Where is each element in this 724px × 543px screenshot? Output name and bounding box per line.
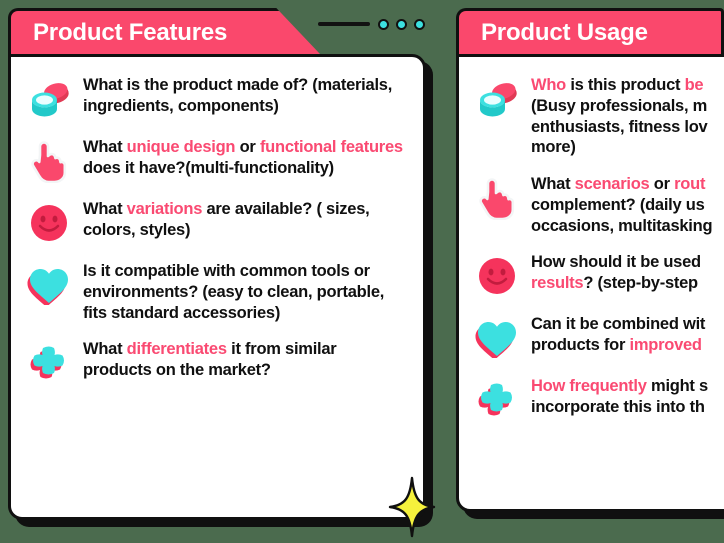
- text-line: What scenarios or rout: [531, 174, 712, 195]
- text-line: Who is this product be: [531, 75, 707, 96]
- card-title: Product Usage: [481, 19, 648, 47]
- text-line: results? (step-by-step: [531, 273, 701, 294]
- pointing-hand-icon: [473, 176, 521, 220]
- highlighted-text: unique design: [127, 138, 236, 156]
- list-item-text: Can it be combined witproducts for impro…: [531, 312, 705, 356]
- feature-list: What is the product made of? (materials,…: [25, 73, 409, 385]
- highlighted-text: variations: [127, 200, 202, 218]
- highlighted-text: scenarios: [575, 175, 650, 193]
- list-item-text: What scenarios or routcomplement? (daily…: [531, 172, 712, 236]
- plain-text: more): [531, 138, 576, 156]
- plain-text: incorporate this into th: [531, 398, 705, 416]
- list-item[interactable]: What unique design or functional feature…: [25, 135, 409, 183]
- card-body-product-usage: Who is this product be(Busy professional…: [456, 54, 724, 512]
- list-item[interactable]: What differentiates it from similar prod…: [25, 337, 409, 385]
- list-item[interactable]: What variations are available? ( sizes, …: [25, 197, 409, 245]
- list-item-text: How frequently might sincorporate this i…: [531, 374, 708, 418]
- list-item[interactable]: What scenarios or routcomplement? (daily…: [473, 172, 724, 236]
- plain-text: What: [83, 340, 127, 358]
- plain-text: does it have?(multi-functionality): [83, 159, 334, 177]
- plain-text: How should it be used: [531, 253, 701, 271]
- card-header-product-features: Product Features: [8, 8, 320, 54]
- list-item[interactable]: What is the product made of? (materials,…: [25, 73, 409, 121]
- heart-icon: [473, 316, 521, 360]
- plain-text: What: [531, 175, 575, 193]
- text-line: incorporate this into th: [531, 397, 708, 418]
- plain-text: What is the product made of? (materials,…: [83, 76, 392, 115]
- text-line: (Busy professionals, m: [531, 96, 707, 117]
- plain-text: What: [83, 200, 127, 218]
- card-body-product-features: What is the product made of? (materials,…: [8, 54, 426, 520]
- list-item-text: What differentiates it from similar prod…: [83, 337, 409, 381]
- list-item-text: What variations are available? ( sizes, …: [83, 197, 409, 241]
- highlighted-text: differentiates: [127, 340, 227, 358]
- text-line: How should it be used: [531, 252, 701, 273]
- highlighted-text: improved: [630, 336, 702, 354]
- list-item-text: Who is this product be(Busy professional…: [531, 73, 707, 158]
- plain-text: might s: [647, 377, 708, 395]
- smiley-icon: [25, 201, 73, 245]
- plain-text: ? (step-by-step: [583, 274, 698, 292]
- plain-text: complement? (daily us: [531, 196, 705, 214]
- jar-icon: [473, 77, 521, 121]
- card-header-product-usage: Product Usage: [456, 8, 724, 54]
- list-item-text: What is the product made of? (materials,…: [83, 73, 409, 117]
- heart-icon: [25, 263, 73, 307]
- highlighted-text: How frequently: [531, 377, 647, 395]
- text-line: enthusiasts, fitness lov: [531, 117, 707, 138]
- plain-text: (Busy professionals, m: [531, 97, 707, 115]
- highlighted-text: results: [531, 274, 583, 292]
- card-product-features: Product Features What is the product mad…: [8, 8, 426, 521]
- puzzle-cross-icon: [25, 341, 73, 385]
- plain-text: Can it be combined wit: [531, 315, 705, 333]
- puzzle-cross-icon: [473, 378, 521, 422]
- highlighted-text: functional features: [260, 138, 403, 156]
- plain-text: or: [235, 138, 260, 156]
- card-product-usage: Product Usage Who is this product be(Bus…: [456, 8, 724, 513]
- plain-text: is this product: [566, 76, 685, 94]
- highlighted-text: Who: [531, 76, 566, 94]
- list-item-text: What unique design or functional feature…: [83, 135, 409, 179]
- smiley-icon: [473, 254, 521, 298]
- text-line: Can it be combined wit: [531, 314, 705, 335]
- highlighted-text: rout: [674, 175, 705, 193]
- list-item[interactable]: Who is this product be(Busy professional…: [473, 73, 724, 158]
- usage-list: Who is this product be(Busy professional…: [473, 73, 724, 422]
- text-line: products for improved: [531, 335, 705, 356]
- plain-text: products for: [531, 336, 630, 354]
- plain-text: What: [83, 138, 127, 156]
- text-line: occasions, multitasking: [531, 216, 712, 237]
- pointing-hand-icon: [25, 139, 73, 183]
- list-item[interactable]: Can it be combined witproducts for impro…: [473, 312, 724, 360]
- list-item[interactable]: Is it compatible with common tools or en…: [25, 259, 409, 323]
- plain-text: Is it compatible with common tools or en…: [83, 262, 384, 322]
- jar-icon: [25, 77, 73, 121]
- list-item-text: Is it compatible with common tools or en…: [83, 259, 409, 323]
- plain-text: enthusiasts, fitness lov: [531, 118, 707, 136]
- list-item[interactable]: How frequently might sincorporate this i…: [473, 374, 724, 422]
- list-item-text: How should it be usedresults? (step-by-s…: [531, 250, 701, 294]
- card-title: Product Features: [33, 19, 227, 47]
- text-line: How frequently might s: [531, 376, 708, 397]
- list-item[interactable]: How should it be usedresults? (step-by-s…: [473, 250, 724, 298]
- highlighted-text: be: [685, 76, 704, 94]
- text-line: more): [531, 137, 707, 158]
- plain-text: or: [649, 175, 674, 193]
- plain-text: occasions, multitasking: [531, 217, 712, 235]
- text-line: complement? (daily us: [531, 195, 712, 216]
